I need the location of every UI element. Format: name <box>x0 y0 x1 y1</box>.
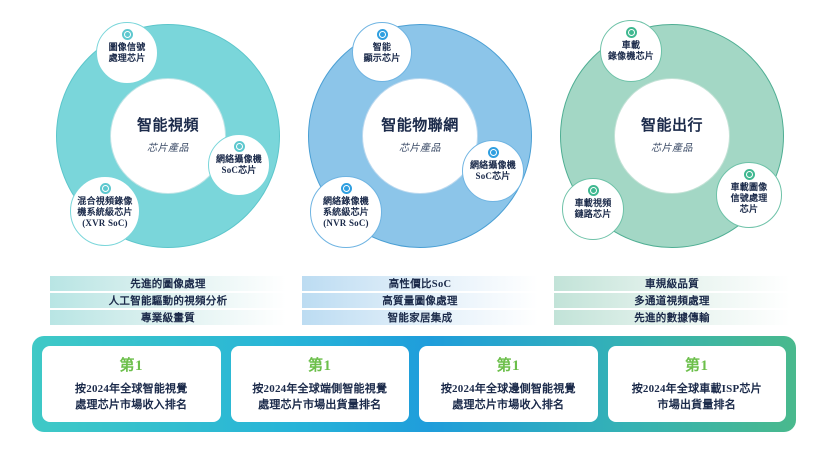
product-bubble[interactable]: 網絡錄像機 系統級芯片 (NVR SoC) <box>310 176 382 248</box>
rank-badge: 第1 <box>119 354 143 375</box>
core-subtitle: 芯片產品 <box>147 139 189 154</box>
product-bubble[interactable]: 混合視頻錄像 機系統級芯片 (XVR SoC) <box>70 176 140 246</box>
ranking-card[interactable]: 第1 按2024年全球端側智能視覺 處理芯片市場出貨量排名 <box>231 346 410 422</box>
product-bubble-label: 混合視頻錄像 機系統級芯片 (XVR SoC) <box>75 196 134 229</box>
rank-description: 按2024年全球端側智能視覺 處理芯片市場出貨量排名 <box>252 382 387 414</box>
product-bubble-label: 圖像信號 處理芯片 <box>107 42 148 64</box>
group-core-circle: 智能視頻 芯片產品 <box>110 78 226 194</box>
core-title: 智能物聯網 <box>381 118 459 135</box>
ring-dot-icon <box>100 183 111 194</box>
core-subtitle: 芯片產品 <box>399 139 441 154</box>
core-subtitle: 芯片產品 <box>651 139 693 154</box>
group-core-circle: 智能物聯網 芯片產品 <box>362 78 478 194</box>
ring-dot-icon <box>588 185 599 196</box>
feature-label: 高質量圖像處理 <box>382 293 458 308</box>
feature-band: 先進的圖像處理 <box>50 276 286 291</box>
product-group-smart-mobility: 智能出行 芯片產品 車載 錄像機芯片 車載圖像 信號處理 芯片 車載視頻 鏈路芯… <box>552 16 792 264</box>
feature-label: 人工智能驅動的視頻分析 <box>109 293 228 308</box>
rank-description: 按2024年全球智能視覺 處理芯片市場收入排名 <box>75 382 187 414</box>
ring-dot-icon <box>234 141 245 152</box>
product-bubble-label: 車載視頻 鏈路芯片 <box>573 198 614 220</box>
ranking-card[interactable]: 第1 按2024年全球智能視覺 處理芯片市場收入排名 <box>42 346 221 422</box>
rank-badge: 第1 <box>685 354 709 375</box>
feature-label: 多通道視頻處理 <box>634 293 710 308</box>
feature-label: 智能家居集成 <box>388 310 453 325</box>
rank-badge: 第1 <box>496 354 520 375</box>
feature-band: 專業級畫質 <box>50 310 286 325</box>
feature-label: 高性價比SoC <box>389 276 452 291</box>
rank-description: 按2024年全球邊側智能視覺 處理芯片市場收入排名 <box>441 382 576 414</box>
product-bubble[interactable]: 車載 錄像機芯片 <box>600 20 662 82</box>
ranking-strip: 第1 按2024年全球智能視覺 處理芯片市場收入排名 第1 按2024年全球端側… <box>32 336 796 432</box>
product-bubble[interactable]: 網絡攝像機 SoC芯片 <box>208 134 270 196</box>
product-bubble[interactable]: 網絡攝像機 SoC芯片 <box>462 140 524 202</box>
product-bubble-label: 網絡錄像機 系統級芯片 (NVR SoC) <box>321 196 371 229</box>
infographic-canvas: 智能視頻 芯片產品 圖像信號 處理芯片 網絡攝像機 SoC芯片 混合視頻錄像 機… <box>0 0 828 456</box>
product-bubble-label: 車載 錄像機芯片 <box>606 40 656 62</box>
feature-band: 智能家居集成 <box>302 310 538 325</box>
feature-band-group-smart-video: 先進的圖像處理 人工智能驅動的視頻分析 專業級畫質 <box>50 276 286 328</box>
feature-band: 車規級品質 <box>554 276 790 291</box>
ring-dot-icon <box>377 29 388 40</box>
feature-band: 高質量圖像處理 <box>302 293 538 308</box>
ring-dot-icon <box>744 169 755 180</box>
ring-dot-icon <box>488 147 499 158</box>
product-bubble[interactable]: 車載圖像 信號處理 芯片 <box>716 162 782 228</box>
feature-band: 高性價比SoC <box>302 276 538 291</box>
product-group-smart-video: 智能視頻 芯片產品 圖像信號 處理芯片 網絡攝像機 SoC芯片 混合視頻錄像 機… <box>48 16 288 264</box>
ring-dot-icon <box>341 183 352 194</box>
feature-label: 車規級品質 <box>645 276 699 291</box>
product-group-aiot: 智能物聯網 芯片產品 智能 顯示芯片 網絡攝像機 SoC芯片 網絡錄像機 系統級… <box>300 16 540 264</box>
product-bubble-label: 網絡攝像機 SoC芯片 <box>214 154 264 176</box>
core-title: 智能視頻 <box>137 118 199 135</box>
rank-badge: 第1 <box>308 354 332 375</box>
core-title: 智能出行 <box>641 118 703 135</box>
feature-label: 專業級畫質 <box>141 310 195 325</box>
product-bubble-label: 網絡攝像機 SoC芯片 <box>468 160 518 182</box>
ranking-card[interactable]: 第1 按2024年全球車載ISP芯片 市場出貨量排名 <box>608 346 787 422</box>
product-bubble[interactable]: 圖像信號 處理芯片 <box>96 22 158 84</box>
feature-band-group-aiot: 高性價比SoC 高質量圖像處理 智能家居集成 <box>302 276 538 328</box>
product-bubble-label: 車載圖像 信號處理 芯片 <box>729 182 770 215</box>
feature-band-group-smart-mobility: 車規級品質 多通道視頻處理 先進的數據傳輸 <box>554 276 790 328</box>
feature-band: 多通道視頻處理 <box>554 293 790 308</box>
product-bubble[interactable]: 智能 顯示芯片 <box>352 22 412 82</box>
group-core-circle: 智能出行 芯片產品 <box>614 78 730 194</box>
feature-band: 先進的數據傳輸 <box>554 310 790 325</box>
feature-label: 先進的數據傳輸 <box>634 310 710 325</box>
product-bubble[interactable]: 車載視頻 鏈路芯片 <box>562 178 624 240</box>
ring-dot-icon <box>626 27 637 38</box>
feature-band: 人工智能驅動的視頻分析 <box>50 293 286 308</box>
rank-description: 按2024年全球車載ISP芯片 市場出貨量排名 <box>632 382 762 414</box>
ring-dot-icon <box>122 29 133 40</box>
feature-label: 先進的圖像處理 <box>130 276 206 291</box>
product-bubble-label: 智能 顯示芯片 <box>362 42 403 64</box>
ranking-card[interactable]: 第1 按2024年全球邊側智能視覺 處理芯片市場收入排名 <box>419 346 598 422</box>
